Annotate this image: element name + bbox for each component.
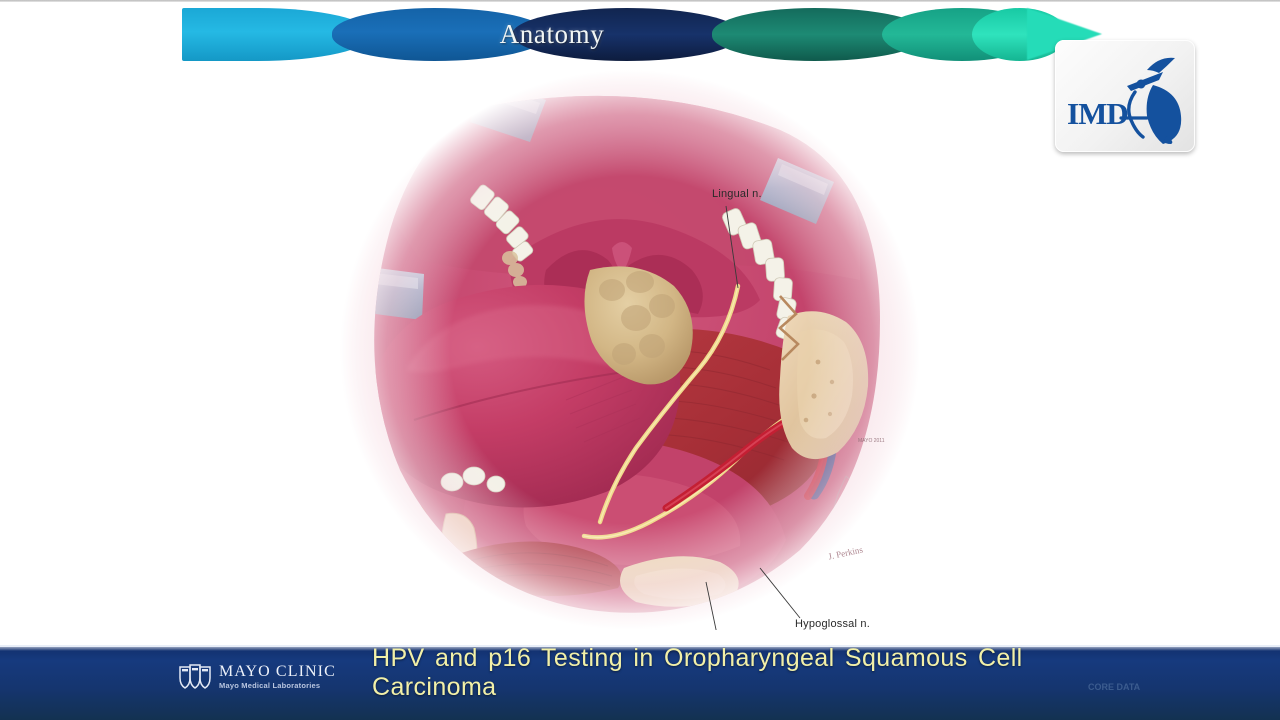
mayo-laboratories-subtitle: Mayo Medical Laboratories bbox=[219, 682, 336, 690]
mayo-wordmark: MAYO CLINIC Mayo Medical Laboratories bbox=[219, 664, 336, 690]
vignette bbox=[340, 70, 920, 630]
footer-watermark: CORE DATA bbox=[1088, 682, 1140, 692]
oral-cavity-dissection-graphic bbox=[340, 70, 920, 630]
imd-logo-text: IMD bbox=[1067, 96, 1128, 132]
annotation-hypoglossal-nerve: Hypoglossal n. bbox=[795, 618, 870, 630]
window-top-edge bbox=[0, 0, 1280, 2]
imd-logo: IMD bbox=[1055, 40, 1195, 152]
annotation-lingual-nerve: Lingual n. bbox=[712, 188, 762, 200]
page-title: Anatomy bbox=[182, 8, 1102, 61]
mayo-clinic-name: MAYO CLINIC bbox=[219, 664, 336, 680]
mayo-clinic-logo: MAYO CLINIC Mayo Medical Laboratories bbox=[178, 660, 358, 694]
illustration-copyright-mark: MAYO 2011 bbox=[858, 438, 885, 444]
header-arrow-banner: Anatomy bbox=[182, 8, 1102, 61]
anatomy-illustration: Lingual n. Hypoglossal n. Lingual a. J. … bbox=[340, 70, 920, 630]
mayo-three-shields-icon bbox=[178, 662, 212, 692]
presentation-title: HPV and p16 Testing in Oropharyngeal Squ… bbox=[372, 655, 1092, 691]
slide-canvas: Anatomy IMD bbox=[0, 0, 1280, 720]
